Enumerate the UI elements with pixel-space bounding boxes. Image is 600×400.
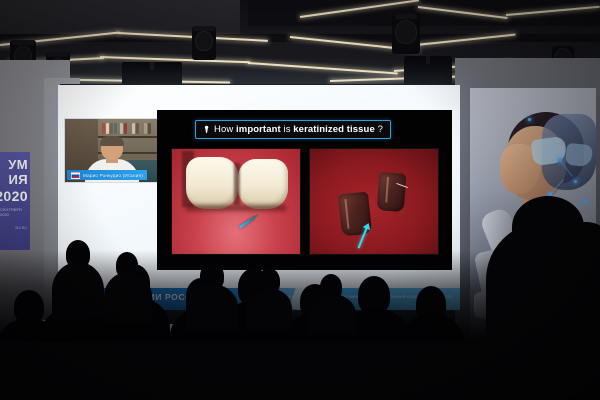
title-part-d: keratinized tissue bbox=[293, 124, 375, 135]
title-part-b: important bbox=[236, 124, 281, 135]
stage-light-moving-head bbox=[392, 14, 420, 54]
tooth-implant-icon bbox=[203, 125, 210, 134]
poster-left-line2: ИЯ bbox=[9, 173, 29, 186]
poster-left-date: СЕНТЯБРЯ 2020 bbox=[0, 207, 27, 217]
clinical-photo-teeth bbox=[171, 148, 301, 255]
title-part-a: How bbox=[214, 124, 236, 135]
poster-left-line1: УМ bbox=[8, 158, 28, 171]
foreground-silhouette-right-head bbox=[512, 196, 584, 258]
video-call-tile: Марио Ронкудио (Италия) bbox=[64, 118, 158, 183]
conference-photo: УМ ИЯ 2020 СЕНТЯБРЯ 2020 SIA.RU bbox=[0, 0, 600, 400]
speaker-name-label: Марио Ронкудио (Италия) bbox=[67, 170, 147, 180]
slide-title-text: How important is keratinized tissue ? bbox=[214, 124, 383, 135]
speaker-name-text: Марио Ронкудио (Италия) bbox=[83, 173, 143, 178]
poster-left-url: SIA.RU bbox=[15, 226, 27, 230]
slide-panel: How important is keratinized tissue ? bbox=[157, 110, 452, 270]
implant-abutment-2 bbox=[377, 172, 407, 212]
flag-icon bbox=[71, 172, 80, 179]
slide-title-box: How important is keratinized tissue ? bbox=[195, 120, 391, 139]
title-part-e: ? bbox=[375, 124, 383, 135]
poster-left: УМ ИЯ 2020 СЕНТЯБРЯ 2020 SIA.RU bbox=[0, 152, 30, 250]
title-part-c: is bbox=[281, 124, 294, 135]
clinical-photo-implants bbox=[309, 148, 439, 255]
poster-left-year: 2020 bbox=[0, 189, 28, 203]
stage-light-center bbox=[192, 26, 216, 60]
